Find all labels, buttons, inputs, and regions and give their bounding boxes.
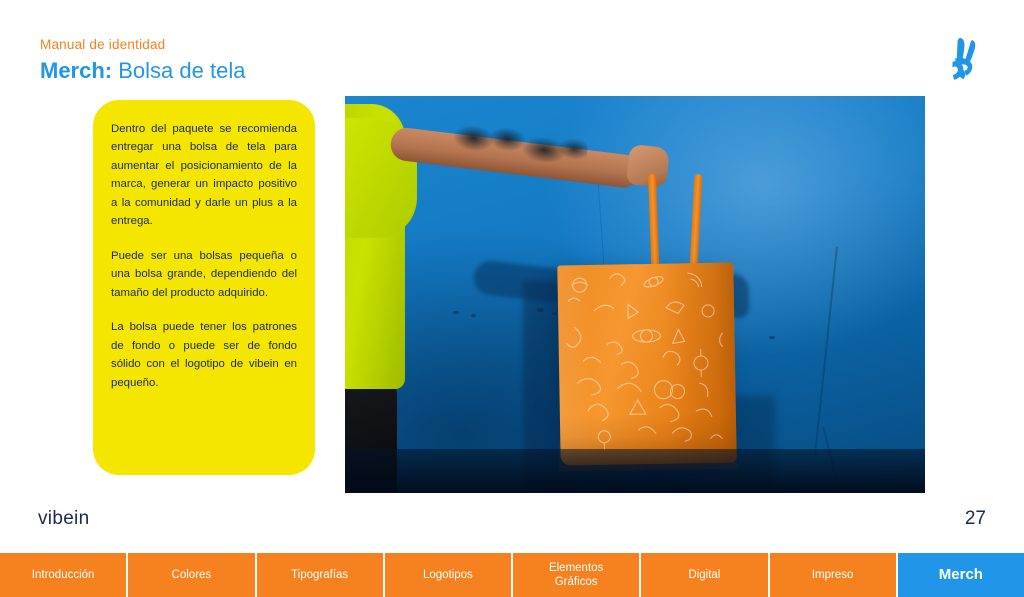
nav-item-impreso[interactable]: Impreso — [770, 553, 898, 597]
section-navigation-bar: Introducción Colores Tipografías Logotip… — [0, 553, 1024, 597]
wall-speck — [471, 314, 476, 317]
photo-floor-shadow — [345, 449, 925, 493]
tote-bag-body — [557, 262, 736, 465]
nav-item-introduccion[interactable]: Introducción — [0, 553, 128, 597]
tote-bag-doodle-pattern — [557, 262, 736, 465]
peace-hand-icon — [944, 34, 988, 86]
nav-item-merch[interactable]: Merch — [898, 553, 1024, 597]
page-title-strong: Merch: — [40, 58, 112, 83]
page-number: 27 — [965, 508, 986, 530]
nav-item-colores[interactable]: Colores — [128, 553, 256, 597]
page-title: Merch: Bolsa de tela — [40, 57, 245, 85]
page-header: Manual de identidad Merch: Bolsa de tela — [40, 36, 245, 84]
nav-item-logotipos[interactable]: Logotipos — [385, 553, 513, 597]
description-card: Dentro del paquete se recomienda entrega… — [93, 100, 315, 475]
wall-speck — [769, 336, 775, 339]
merch-tote-bag-photo — [345, 96, 925, 493]
description-paragraph-2: Puede ser una bolsas pequeña o una bolsa… — [111, 247, 297, 302]
nav-item-elementos-graficos[interactable]: Elementos Gráficos — [513, 553, 641, 597]
footer-brand-wordmark: vibein — [38, 508, 89, 530]
header-eyebrow: Manual de identidad — [40, 36, 245, 54]
nav-item-tipografias[interactable]: Tipografías — [257, 553, 385, 597]
page-title-rest: Bolsa de tela — [112, 58, 245, 83]
description-paragraph-3: La bolsa puede tener los patrones de fon… — [111, 318, 297, 392]
description-paragraph-1: Dentro del paquete se recomienda entrega… — [111, 120, 297, 231]
wall-speck — [453, 311, 459, 314]
nav-item-digital[interactable]: Digital — [641, 553, 769, 597]
